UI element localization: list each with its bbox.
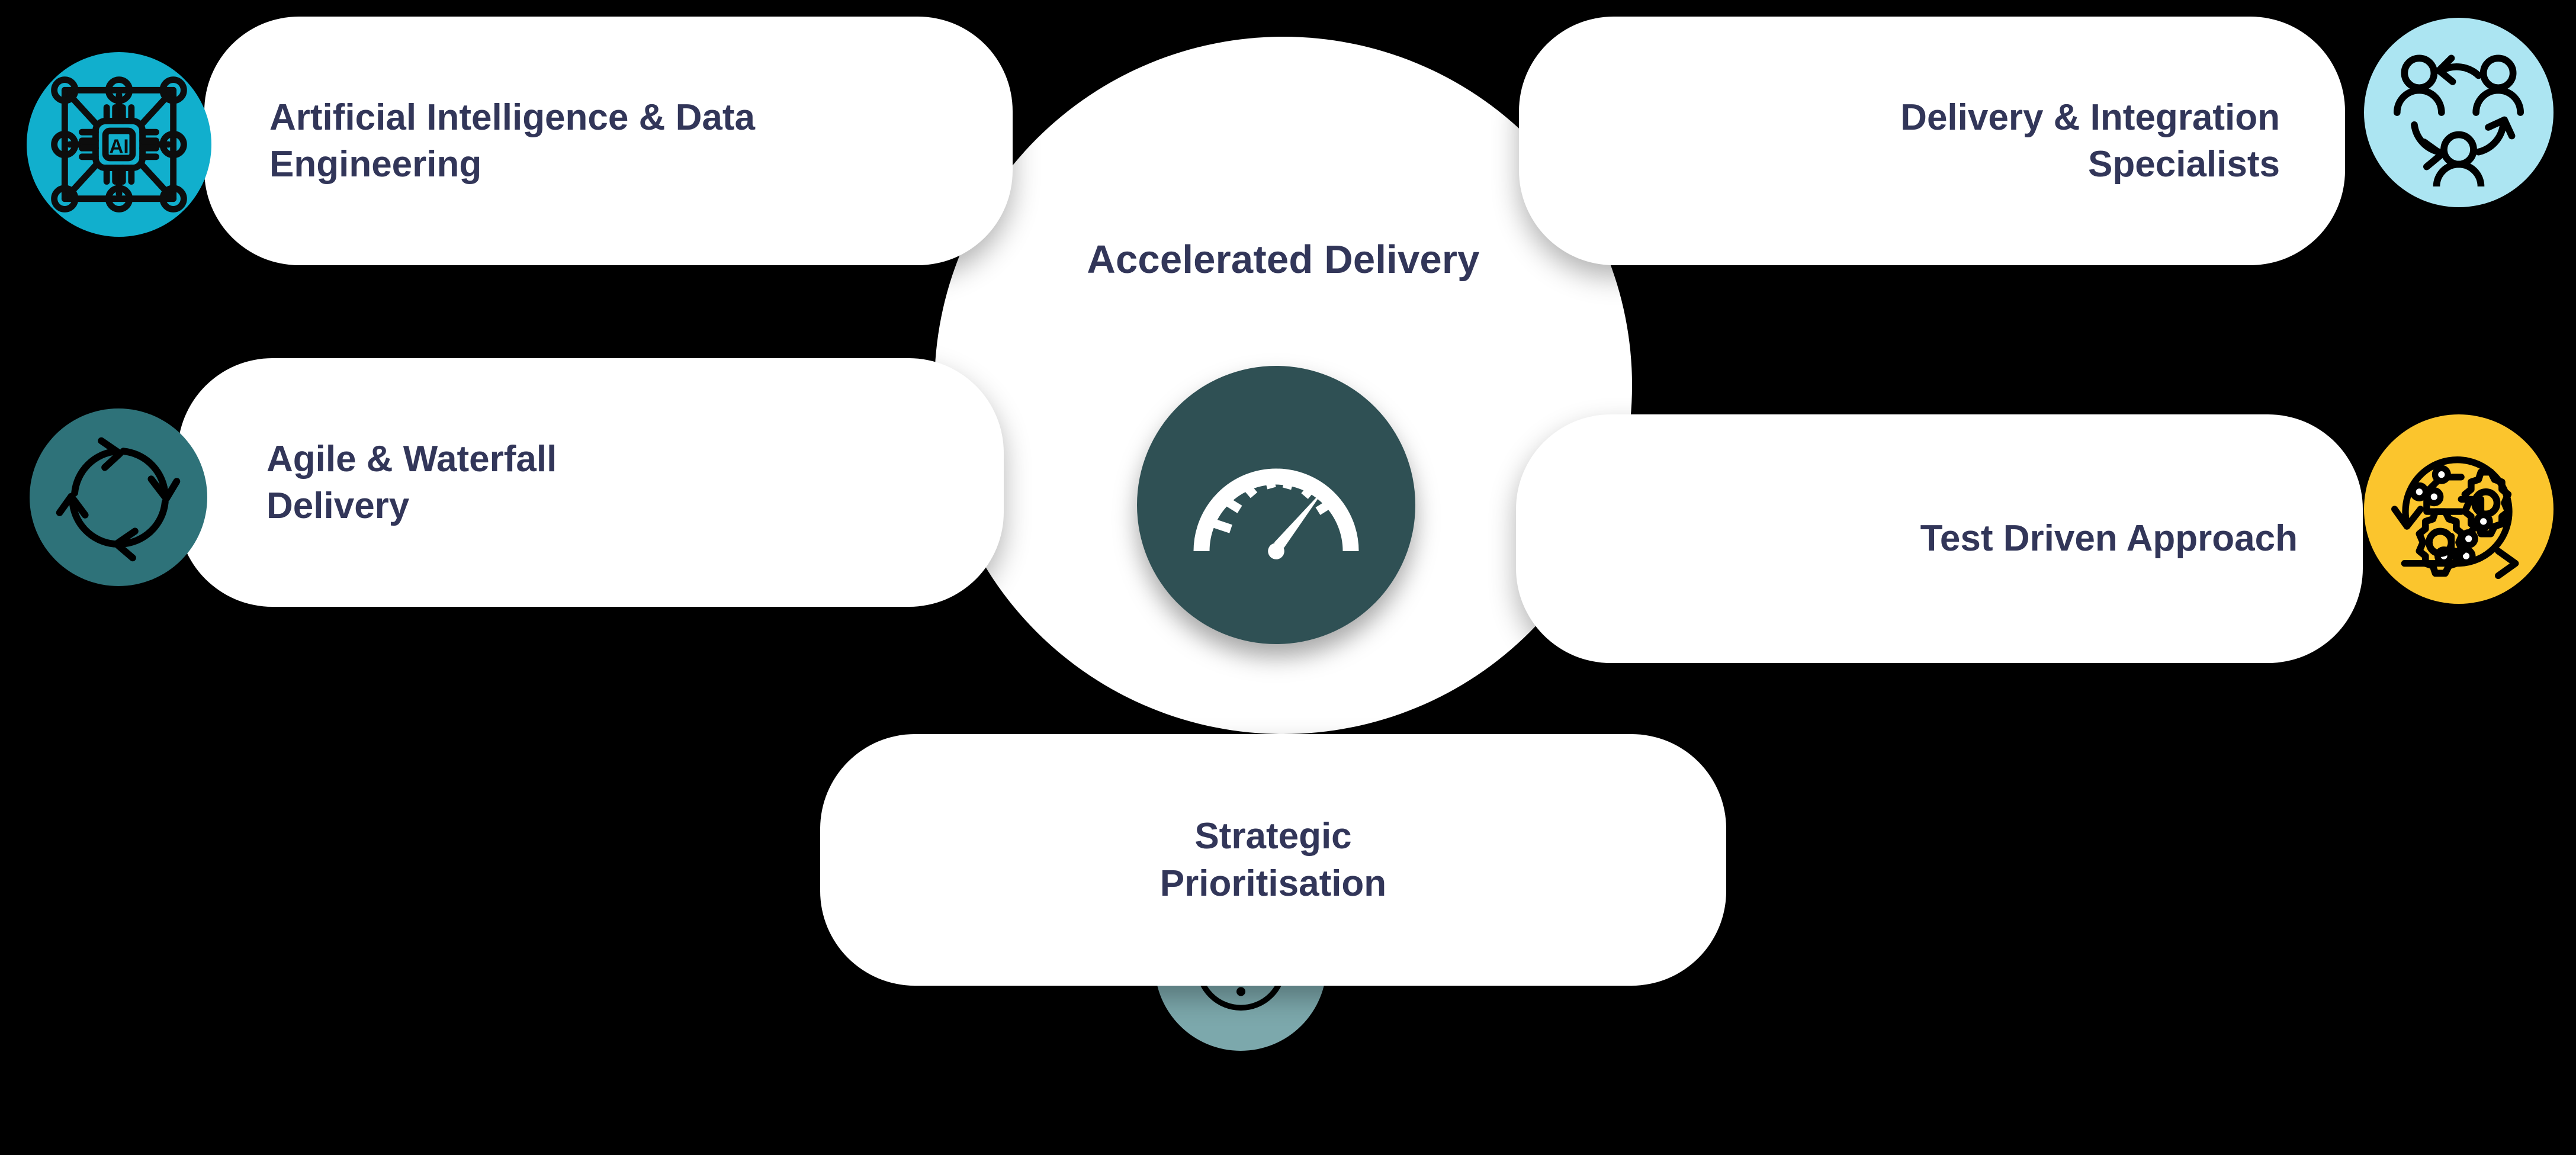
card-delivery-integration-specialists[interactable]: Delivery & Integration Specialists <box>1519 17 2345 265</box>
speedometer-icon <box>1187 416 1365 594</box>
card-test-driven-approach[interactable]: Test Driven Approach <box>1516 414 2363 663</box>
card-strategic-prioritisation[interactable]: Strategic Prioritisation <box>820 734 1726 986</box>
card-label-test: Test Driven Approach <box>1920 515 2298 562</box>
ai-chip-network-icon-badge[interactable]: AI <box>27 52 211 237</box>
diagram-canvas: Accelerated Delivery <box>0 0 2576 1155</box>
three-people-collaboration-icon <box>2385 38 2533 186</box>
hub-title: Accelerated Delivery <box>934 237 1632 282</box>
svg-text:AI: AI <box>109 136 129 158</box>
circular-arrows-cycle-icon <box>49 428 188 567</box>
card-label-delivery: Delivery & Integration Specialists <box>1900 94 2280 188</box>
card-artificial-intelligence[interactable]: Artificial Intelligence & Data Engineeri… <box>204 17 1013 265</box>
gears-loop-icon-badge[interactable] <box>2364 414 2553 604</box>
circular-arrows-cycle-icon-badge[interactable] <box>30 408 207 586</box>
hub-icon-badge <box>1137 366 1415 644</box>
card-agile-waterfall-delivery[interactable]: Agile & Waterfall Delivery <box>178 358 1004 607</box>
card-label-strategic: Strategic Prioritisation <box>820 813 1726 907</box>
gears-loop-icon <box>2385 435 2533 583</box>
ai-chip-network-icon: AI <box>45 70 193 218</box>
three-people-collaboration-icon-badge[interactable] <box>2364 18 2553 207</box>
card-label-agile: Agile & Waterfall Delivery <box>266 436 557 530</box>
card-label-ai: Artificial Intelligence & Data Engineeri… <box>269 94 755 188</box>
